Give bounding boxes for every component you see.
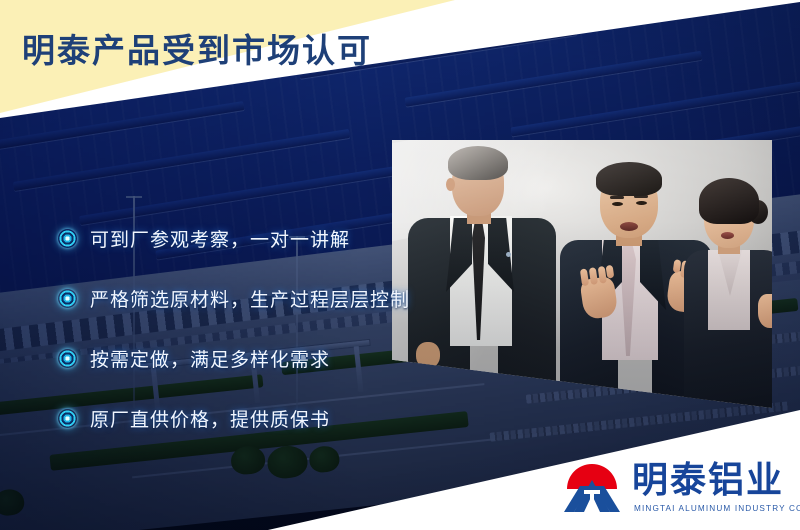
selling-points-list: 可到厂参观考察，一对一讲解 严格筛选原材料，生产过程层层控制 按需定做，满足多样… bbox=[58, 212, 398, 452]
list-item-label: 原厂直供价格，提供质保书 bbox=[90, 405, 330, 432]
list-item: 严格筛选原材料，生产过程层层控制 bbox=[58, 272, 398, 324]
mingtai-sun-mountain-icon bbox=[560, 462, 624, 514]
mingtai-product-banner: 明泰产品受到市场认可 bbox=[0, 0, 800, 530]
target-icon bbox=[58, 349, 77, 368]
page-title: 明泰产品受到市场认可 bbox=[22, 24, 372, 72]
list-item: 原厂直供价格，提供质保书 bbox=[58, 392, 398, 444]
list-item: 可到厂参观考察，一对一讲解 bbox=[58, 212, 398, 264]
list-item-label: 严格筛选原材料，生产过程层层控制 bbox=[90, 285, 410, 312]
list-item-label: 可到厂参观考察，一对一讲解 bbox=[90, 225, 350, 252]
company-logo: 明泰铝业 MINGTAI ALUMINUM INDUSTRY CO., LTD bbox=[560, 462, 792, 522]
target-icon bbox=[58, 229, 77, 248]
list-item-label: 按需定做，满足多样化需求 bbox=[90, 345, 330, 372]
logo-company-name-cn: 明泰铝业 bbox=[632, 460, 784, 502]
target-icon bbox=[58, 289, 77, 308]
target-icon bbox=[58, 409, 77, 428]
logo-company-name-en: MINGTAI ALUMINUM INDUSTRY CO., LTD bbox=[634, 504, 800, 513]
list-item: 按需定做，满足多样化需求 bbox=[58, 332, 398, 384]
